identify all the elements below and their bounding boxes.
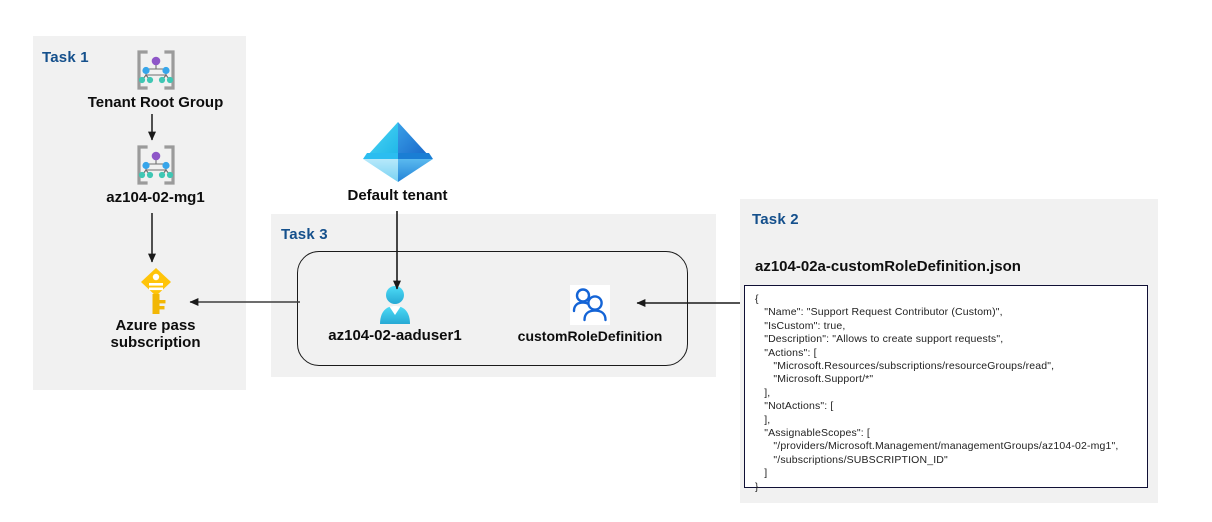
task2-filename: az104-02a-customRoleDefinition.json [755,258,1021,275]
users-role-icon [505,284,675,326]
node-az104-02-mg1: az104-02-mg1 [78,143,233,207]
node-label-customroledefinition: customRoleDefinition [505,329,675,345]
node-tenant-root-group: Tenant Root Group [78,48,233,112]
node-label-tenant-root-group: Tenant Root Group [78,95,233,112]
node-default-tenant: Default tenant [320,120,475,205]
node-az104-02-aaduser1: az104-02-aaduser1 [315,284,475,345]
custom-role-json-text: { "Name": "Support Request Contributor (… [755,293,1137,494]
key-icon [78,266,233,316]
management-group-icon [78,143,233,187]
node-label-default-tenant: Default tenant [320,188,475,205]
node-label-az104-02-mg1: az104-02-mg1 [78,190,233,207]
management-group-icon [78,48,233,92]
node-label-azure-pass-subscription: Azure pass subscription [78,318,233,352]
node-customroledefinition: customRoleDefinition [505,284,675,345]
user-icon [315,284,475,326]
custom-role-json-code-block: { "Name": "Support Request Contributor (… [744,285,1148,488]
node-label-az104-02-aaduser1: az104-02-aaduser1 [315,328,475,345]
task2-label: Task 2 [752,211,799,228]
node-azure-pass-subscription: Azure pass subscription [78,266,233,352]
azure-ad-tenant-icon [320,120,475,186]
task3-label: Task 3 [281,226,328,243]
